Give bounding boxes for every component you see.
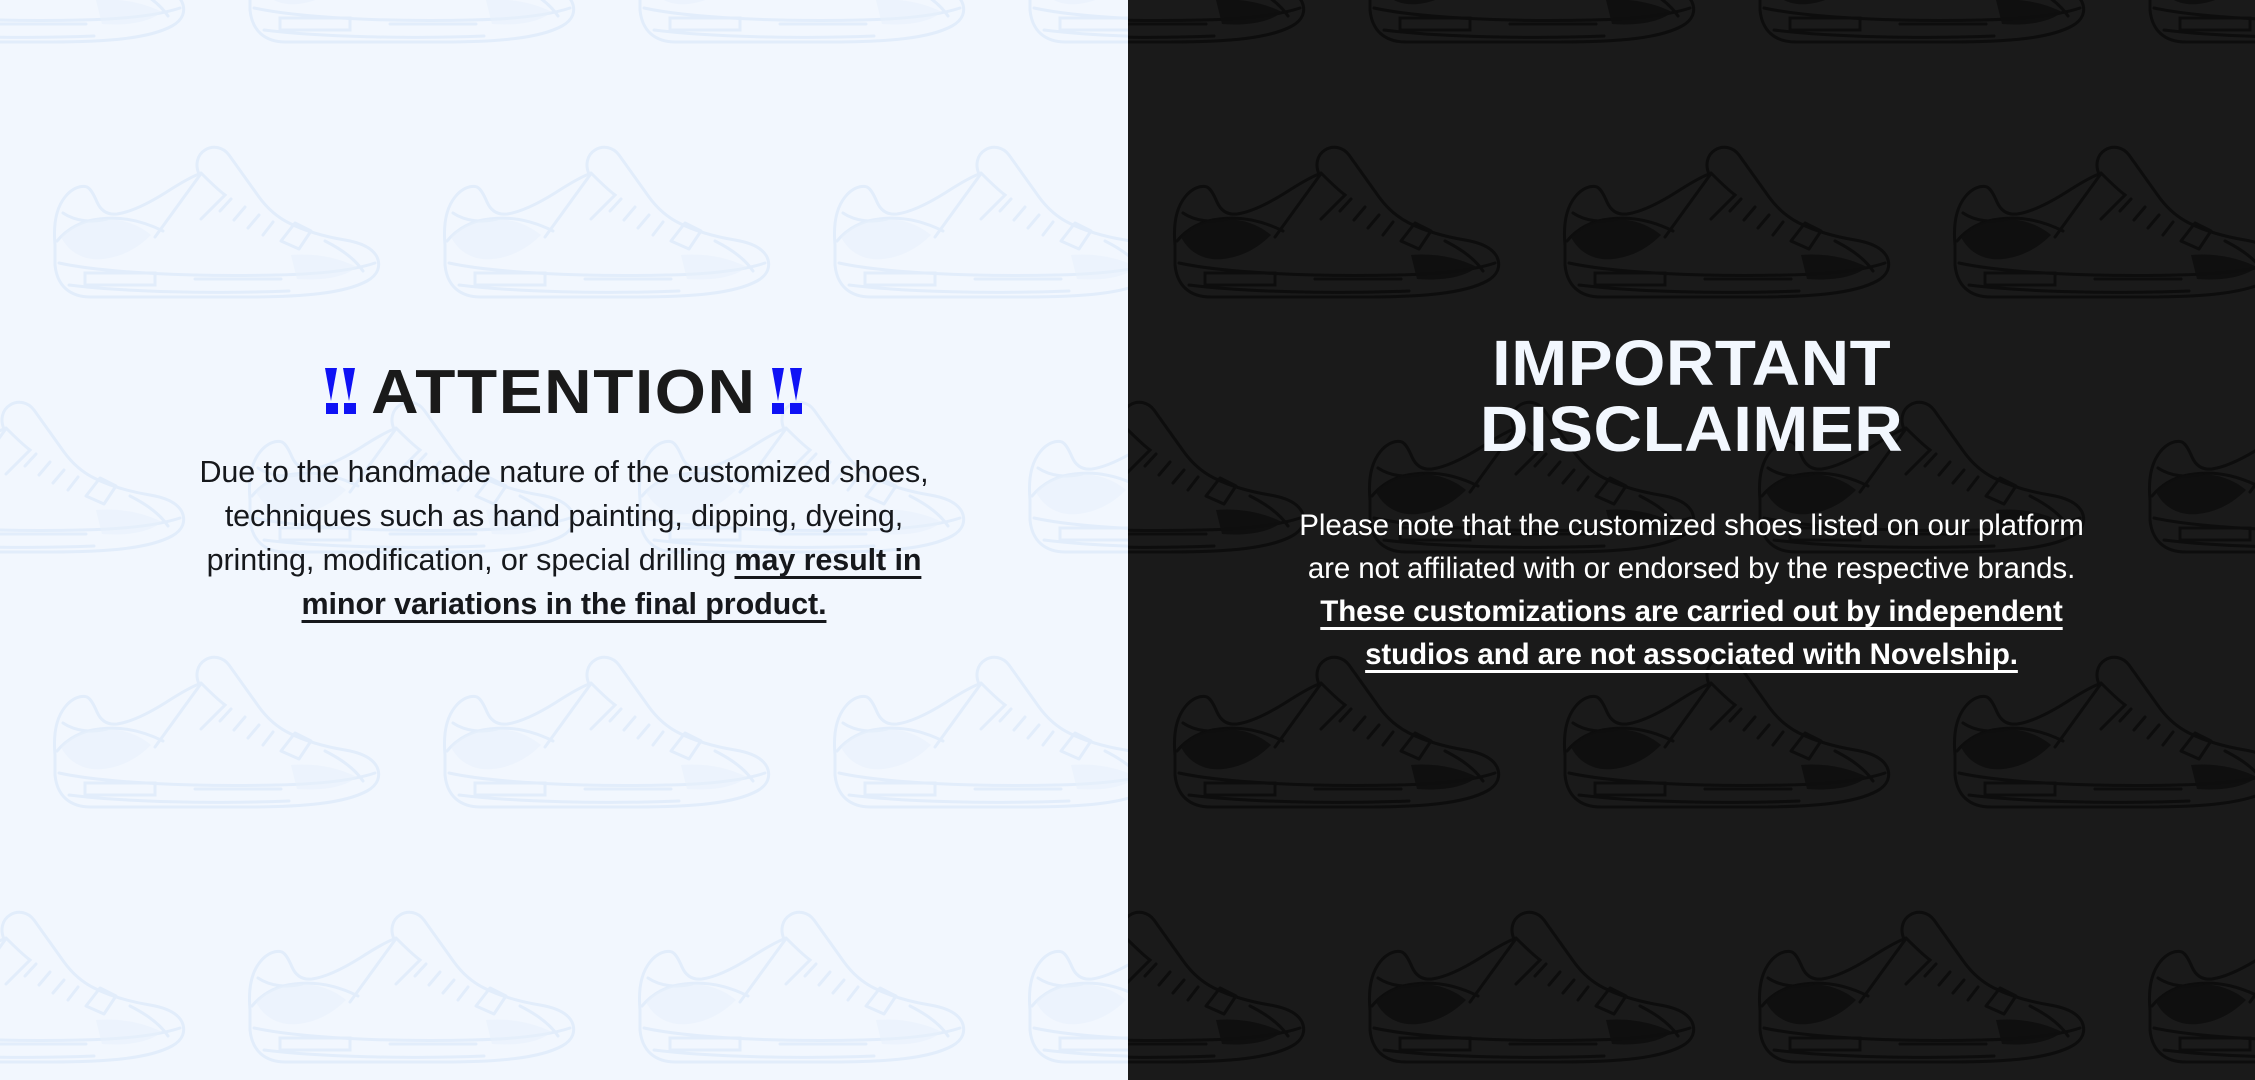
disclaimer-panel: IMPORTANTDISCLAIMER Please note that the… bbox=[1128, 0, 2255, 1080]
attention-title: ATTENTION bbox=[371, 362, 756, 424]
disclaimer-headline-line1: IMPORTANT bbox=[1492, 327, 1891, 399]
attention-headline: ATTENTION bbox=[325, 362, 803, 424]
disclaimer-headline: IMPORTANTDISCLAIMER bbox=[1480, 330, 1903, 462]
disclaimer-body-emphasis: These customizations are carried out by … bbox=[1320, 595, 2062, 671]
attention-panel: ATTENTION Due to the handmade nature of … bbox=[0, 0, 1128, 1080]
attention-content: ATTENTION Due to the handmade nature of … bbox=[0, 0, 1128, 1080]
disclaimer-body: Please note that the customized shoes li… bbox=[1282, 504, 2102, 676]
customization-disclaimer-banner: ATTENTION Due to the handmade nature of … bbox=[0, 0, 2255, 1080]
attention-body: Due to the handmade nature of the custom… bbox=[169, 450, 959, 626]
double-exclamation-icon-right bbox=[772, 368, 803, 414]
double-exclamation-icon-left bbox=[325, 368, 356, 414]
disclaimer-headline-line2: DISCLAIMER bbox=[1480, 393, 1903, 465]
disclaimer-body-normal: Please note that the customized shoes li… bbox=[1299, 509, 2083, 585]
disclaimer-content: IMPORTANTDISCLAIMER Please note that the… bbox=[1128, 0, 2255, 1080]
